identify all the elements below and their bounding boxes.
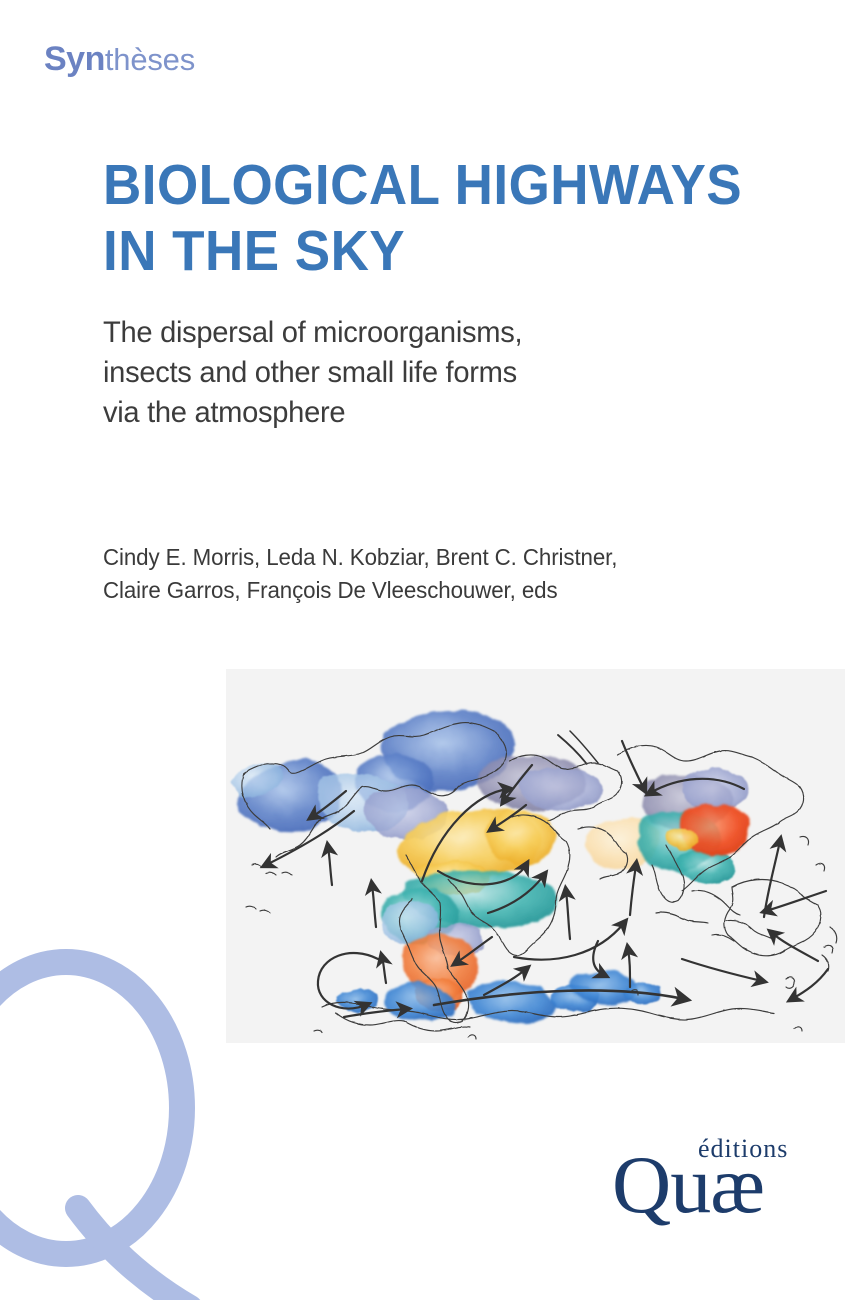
book-title-line-2: IN THE SKY (103, 218, 754, 284)
book-authors-line-1: Cindy E. Morris, Leda N. Kobziar, Brent … (103, 541, 763, 574)
collection-logo-syntheses: Synthèses (44, 42, 195, 76)
book-authors-line-2: Claire Garros, François De Vleeschouwer,… (103, 574, 763, 607)
book-subtitle-line-3: via the atmosphere (103, 393, 743, 433)
book-subtitle-line-1: The dispersal of microorganisms, (103, 313, 743, 353)
book-subtitle-line-2: insects and other small life forms (103, 353, 743, 393)
quae-q-watermark (0, 940, 228, 1300)
publisher-quae-wordmark: Quæ (612, 1144, 764, 1226)
book-subtitle: The dispersal of microorganisms, insects… (103, 313, 763, 433)
collection-logo-bold-text: Syn (44, 40, 105, 78)
q-watermark-svg (0, 940, 228, 1300)
book-title: BIOLOGICAL HIGHWAYS IN THE SKY (103, 152, 803, 284)
cover-illustration-world-map (226, 669, 845, 1043)
collection-logo-light-text: thèses (105, 42, 195, 77)
publisher-logo-editions-quae: éditions Quæ (612, 1132, 812, 1232)
book-title-line-1: BIOLOGICAL HIGHWAYS (103, 152, 754, 218)
book-authors: Cindy E. Morris, Leda N. Kobziar, Brent … (103, 541, 783, 607)
world-map-illustration-svg (226, 669, 845, 1043)
